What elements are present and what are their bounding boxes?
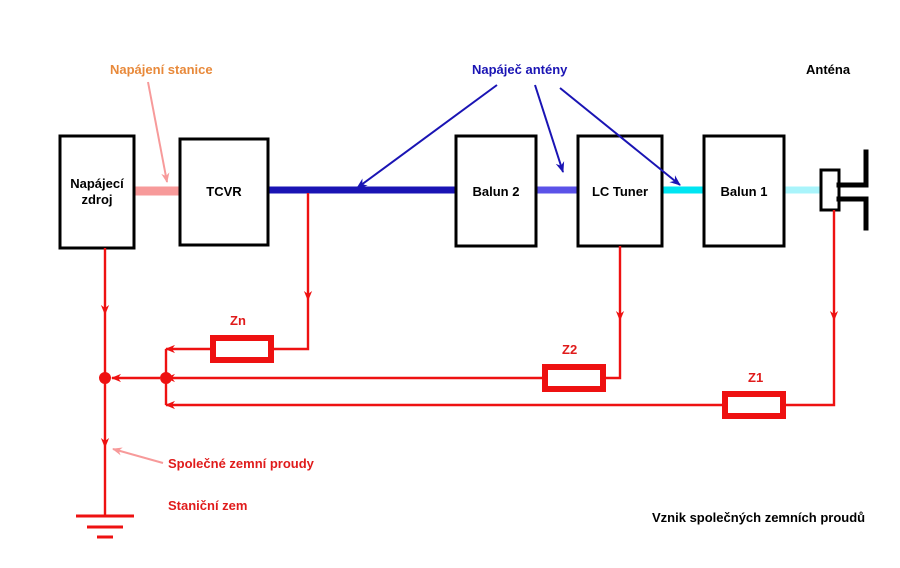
antenna-symbol — [821, 152, 866, 228]
annotation-station-ground-label: Staniční zem — [168, 498, 247, 513]
impedance-label-z1: Z1 — [748, 370, 763, 385]
block-label-balun-2: Balun 2 — [456, 137, 536, 247]
block-label-lc-tuner: LC Tuner — [578, 137, 662, 247]
block-label-tcvr: TCVR — [180, 137, 268, 247]
ground-wire-z1-run — [785, 320, 834, 405]
impedance-zn-body[interactable] — [213, 338, 271, 360]
leader-feedline-right — [535, 85, 563, 172]
block-label-power-supply: Napájecí zdroj — [62, 137, 132, 247]
annotation-power-label: Napájení stanice — [110, 62, 213, 77]
impedance-label-z2: Z2 — [562, 342, 577, 357]
ground-wire-z2-run — [605, 320, 620, 378]
antenna-dipole-upper-icon — [839, 152, 866, 185]
annotation-feedline-label: Napáječ antény — [472, 62, 567, 77]
junction-dot-main — [99, 372, 111, 384]
block-label-balun-1: Balun 1 — [704, 137, 784, 247]
leader-power-label — [148, 82, 167, 182]
leader-common-currents — [113, 449, 163, 463]
impedance-z2-body[interactable] — [545, 367, 603, 389]
ground-wire-zn-run — [273, 300, 308, 349]
impedance-label-zn: Zn — [230, 313, 246, 328]
antenna-dipole-lower-icon — [839, 199, 866, 228]
station-earth-symbol — [76, 516, 134, 537]
junction-dot-bus — [160, 372, 172, 384]
annotation-antenna-label: Anténa — [806, 62, 850, 77]
diagram-canvas — [0, 0, 900, 568]
impedance-z1-body[interactable] — [725, 394, 783, 416]
diagram-caption: Vznik společných zemních proudů — [652, 510, 865, 525]
antenna-insulator-icon — [821, 170, 839, 210]
annotation-common-currents-label: Společné zemní proudy — [168, 456, 314, 471]
